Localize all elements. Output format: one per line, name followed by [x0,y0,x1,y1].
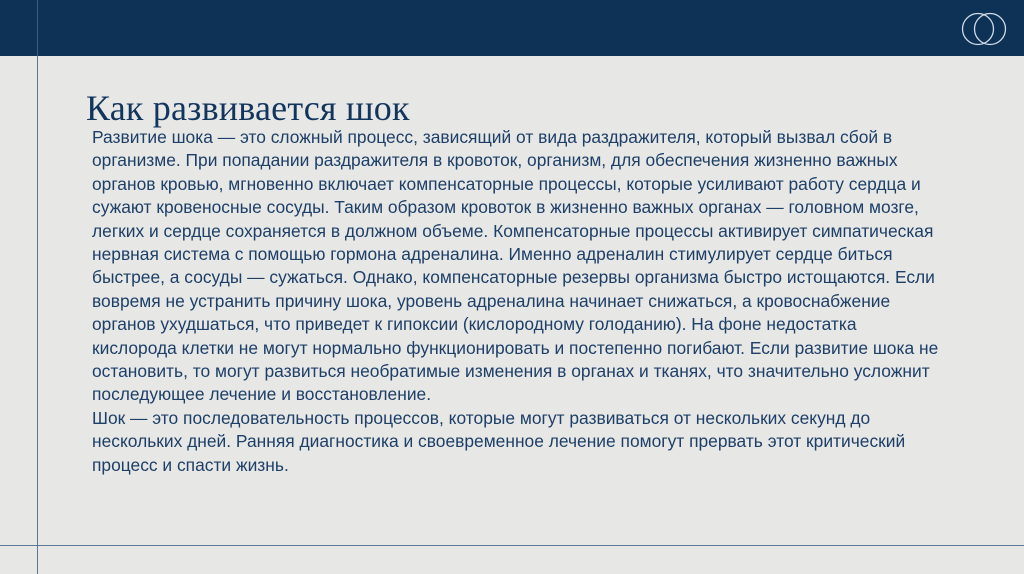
two-overlapping-circles-icon [956,9,1012,49]
bottom-horizontal-rule [0,545,1024,546]
left-vertical-rule [37,0,38,574]
body-text: Развитие шока — это сложный процесс, зав… [92,126,940,477]
body-paragraph-1: Развитие шока — это сложный процесс, зав… [92,126,940,407]
page-title: Как развивается шок [86,86,410,130]
body-paragraph-2: Шок — это последовательность процессов, … [92,407,940,477]
header-band [0,0,1024,56]
slide: Как развивается шок Развитие шока — это … [0,0,1024,574]
